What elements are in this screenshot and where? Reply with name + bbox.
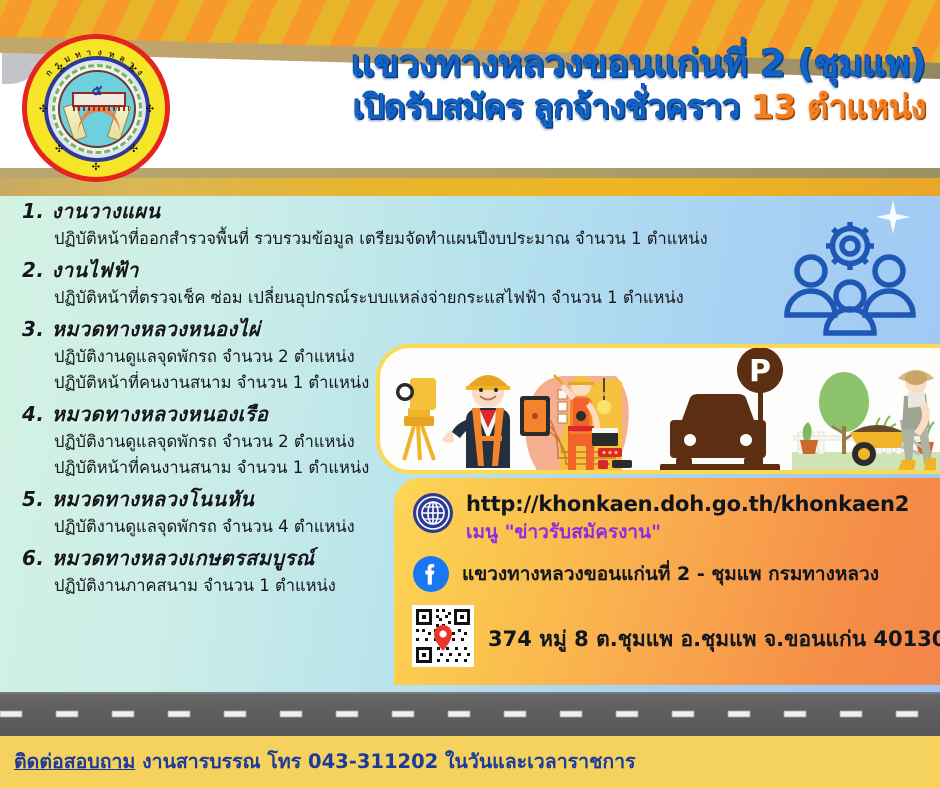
logo-ornament-icon: ✣	[92, 163, 100, 173]
facebook-icon	[412, 555, 450, 597]
job-duty: ปฏิบัติหน้าที่ตรวจเช็ค ซ่อม เปลี่ยนอุปกร…	[54, 285, 722, 311]
logo-org-name: กรมทางหลวง	[27, 43, 165, 181]
job-title: 3. หมวดทางหลวงหนองไผ่	[22, 314, 722, 344]
subtitle-suffix: ตำแหน่ง	[796, 87, 926, 126]
illustration-svg: P	[380, 348, 940, 474]
road-divider-graphic	[0, 692, 940, 736]
subtitle-prefix: เปิดรับสมัคร ลูกจ้างชั่วคราว	[353, 87, 751, 126]
website-menu-hint: เมนู "ข่าวรับสมัครงาน"	[466, 517, 940, 547]
job-title: 2. งานไฟฟ้า	[22, 255, 722, 285]
address-row: 374 หมู่ 8 ต.ชุมแพ อ.ชุมแพ จ.ขอนแก่น 401…	[412, 605, 940, 671]
logo-ornament-icon: ✣	[39, 105, 47, 115]
website-url[interactable]: http://khonkaen.doh.go.th/khonkaen2	[466, 492, 940, 516]
footer-bar: ติดต่อสอบถาม งานสารบรรณ โทร 043-311202 ใ…	[0, 736, 940, 788]
footer-contact-detail: งานสารบรรณ โทร 043-311202 ในวันและเวลารา…	[135, 750, 635, 773]
page-title: แขวงทางหลวงขอนแก่นที่ 2 (ชุมแพ)	[176, 44, 926, 83]
road-lane-dashes	[0, 711, 940, 717]
contact-panel: http://khonkaen.doh.go.th/khonkaen2 เมนู…	[394, 478, 940, 685]
parking-sign-letter: P	[749, 354, 771, 389]
globe-icon	[412, 492, 454, 538]
poster-title-block: แขวงทางหลวงขอนแก่นที่ 2 (ชุมแพ) เปิดรับส…	[176, 44, 932, 174]
list-item: 1. งานวางแผน ปฏิบัติหน้าที่ออกสำรวจพื้นท…	[22, 196, 722, 252]
website-row[interactable]: http://khonkaen.doh.go.th/khonkaen2 เมนู…	[412, 492, 940, 547]
logo-arc-text: กรมทางหลวง	[27, 43, 165, 181]
car-parking-scene: P	[660, 348, 783, 472]
office-address: 374 หมู่ 8 ต.ชุมแพ อ.ชุมแพ จ.ขอนแก่น 401…	[488, 605, 940, 656]
logo-ornament-icon: ✣	[57, 65, 65, 75]
facebook-page-name[interactable]: แขวงทางหลวงขอนแก่นที่ 2 - ชุมแพ กรมทางหล…	[462, 555, 940, 589]
qr-code-icon[interactable]	[412, 605, 474, 671]
gold-divider-band	[0, 178, 940, 196]
logo-ornament-icon: ✣	[130, 145, 138, 155]
footer-contact-line: ติดต่อสอบถาม งานสารบรรณ โทร 043-311202 ใ…	[14, 746, 636, 777]
footer-contact-label: ติดต่อสอบถาม	[14, 750, 135, 773]
logo-ornament-icon: ✣	[146, 105, 154, 115]
surveyor-scene	[396, 375, 510, 468]
job-title: 1. งานวางแผน	[22, 196, 722, 226]
electrician-scene	[520, 375, 632, 472]
vacancy-count: 13	[751, 87, 796, 126]
facebook-row[interactable]: แขวงทางหลวงขอนแก่นที่ 2 - ชุมแพ กรมทางหล…	[412, 555, 940, 597]
doh-department-logo: ๕ กรมทางหลวง ✣ ✣ ✣ ✣ ✣ ✣ ✣	[22, 34, 170, 182]
logo-ornament-icon: ✣	[55, 145, 63, 155]
gardener-scene	[792, 370, 940, 472]
illustration-card: P	[376, 344, 940, 474]
job-duty: ปฏิบัติหน้าที่ออกสำรวจพื้นที่ รวบรวมข้อม…	[54, 226, 722, 252]
page-subtitle: เปิดรับสมัคร ลูกจ้างชั่วคราว 13 ตำแหน่ง	[176, 90, 926, 125]
sparkle-icon	[876, 200, 910, 234]
list-item: 2. งานไฟฟ้า ปฏิบัติหน้าที่ตรวจเช็ค ซ่อม …	[22, 255, 722, 311]
logo-ornament-icon: ✣	[129, 65, 137, 75]
recruitment-poster: ๕ กรมทางหลวง ✣ ✣ ✣ ✣ ✣ ✣ ✣ แขวงทางหลวงขอ…	[0, 0, 940, 788]
